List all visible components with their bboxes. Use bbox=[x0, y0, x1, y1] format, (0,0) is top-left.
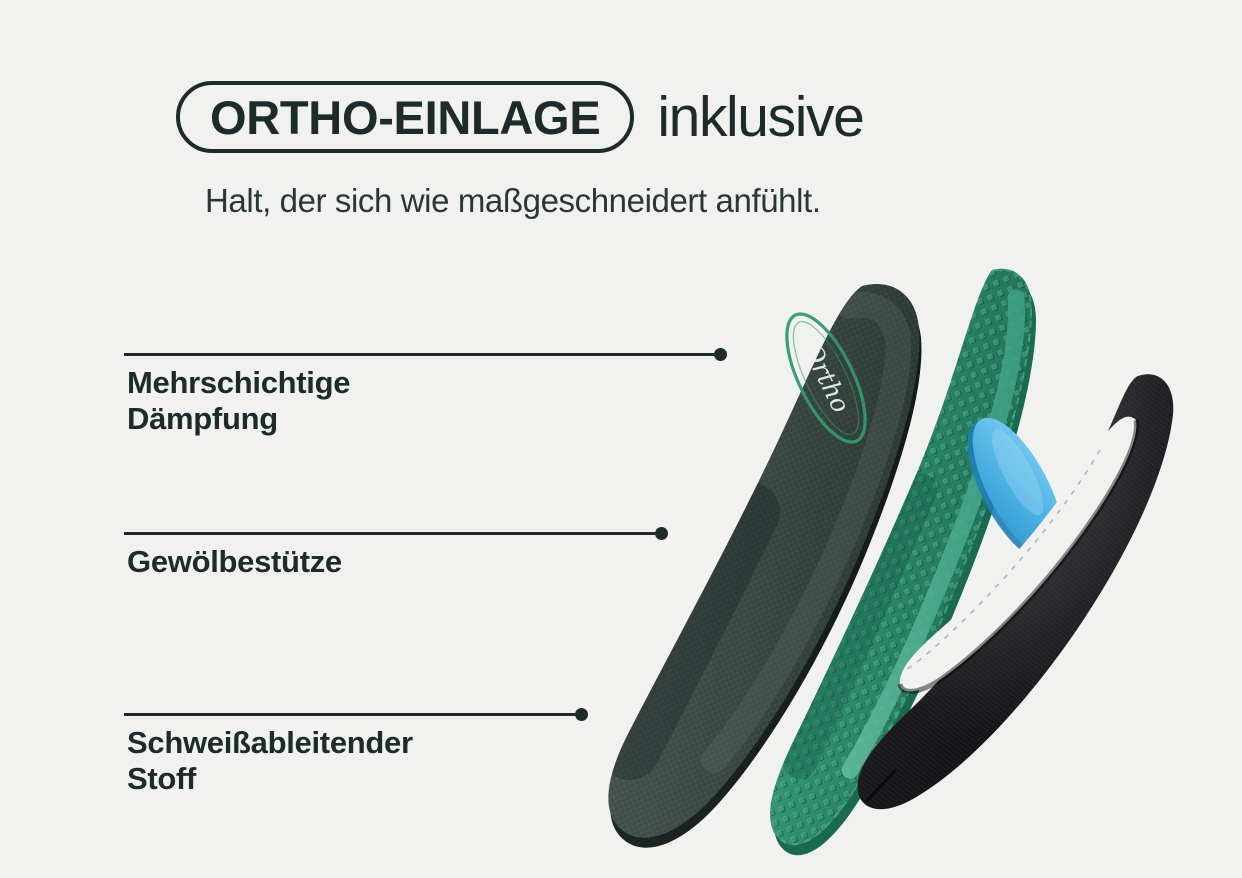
feature-label: Schweißableitender Stoff bbox=[127, 725, 413, 798]
promo-banner: ORTHO-EINLAGE inklusive Halt, der sich w… bbox=[0, 0, 1242, 878]
feature-label: Gewölbestütze bbox=[127, 544, 342, 580]
leader-line bbox=[124, 532, 655, 535]
headline: ORTHO-EINLAGE inklusive bbox=[176, 78, 863, 156]
leader-line bbox=[124, 713, 575, 716]
product-image: Ortho bbox=[600, 250, 1242, 878]
leader-dot bbox=[575, 708, 588, 721]
headline-trailing-word: inklusive bbox=[657, 89, 863, 146]
subtitle: Halt, der sich wie maßgeschneidert anfüh… bbox=[205, 182, 821, 220]
feature-label: Mehrschichtige Dämpfung bbox=[127, 365, 350, 438]
ortho-badge: ORTHO-EINLAGE bbox=[176, 81, 634, 153]
ortho-badge-label: ORTHO-EINLAGE bbox=[210, 94, 600, 141]
